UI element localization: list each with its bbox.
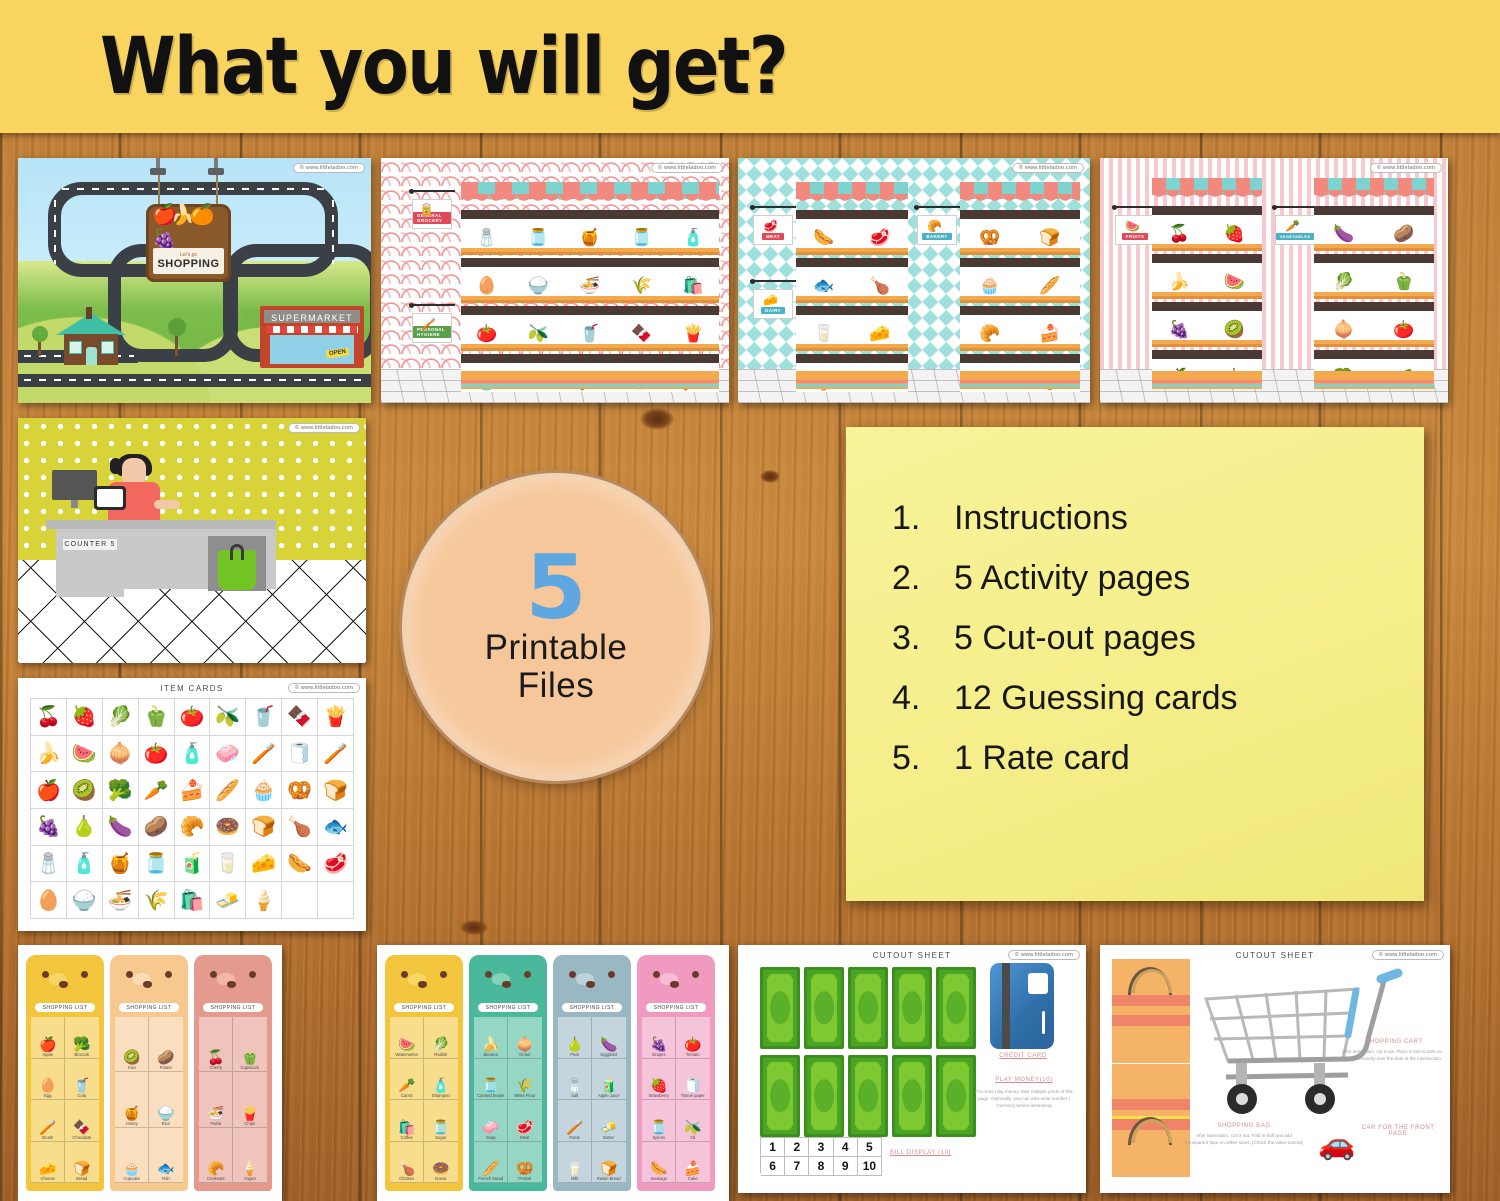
item-icon: 🧁 (123, 1161, 140, 1175)
play-money-bill[interactable] (804, 1055, 844, 1137)
sign-bracket (150, 168, 166, 175)
contents-list-item: 5.1 Rate card (892, 739, 1424, 778)
item-name: Rice (162, 1121, 170, 1126)
tree (32, 326, 48, 356)
shopping-list-item: 🥕Carrot (390, 1059, 424, 1101)
shopping-list-item: 🍚Rice (149, 1072, 183, 1127)
preview-card-item-cards[interactable]: ITEM CARDS 🍒🍓🥬🫑🍅🫒🥤🍫🍟🍌🍉🧅🍅🧴🧼🪥🧻🪥🍎🥝🥦🥕🍰🥖🧁🥨🍞🍇🍐… (18, 678, 366, 931)
item-name: Potato (160, 1065, 172, 1070)
shelf-canopy (1152, 178, 1262, 195)
item-name: Capsicum (240, 1065, 259, 1070)
tree (168, 318, 186, 356)
item-icon: 🍰 (684, 1161, 701, 1175)
item-name: Apple Juice (598, 1093, 620, 1098)
animal-head-koala (553, 955, 631, 999)
shopping-list-item: 🍒Cherry (199, 1017, 233, 1072)
item-name: Butter (603, 1135, 614, 1140)
item-icon: 🛍️ (398, 1120, 415, 1134)
item-icon: 🍇 (650, 1037, 667, 1051)
shopping-list-item: 🫙Sugar (424, 1100, 458, 1142)
item-icon: 🍐 (566, 1037, 583, 1051)
item-name: Canned beans (477, 1093, 504, 1098)
item-name: Cake (688, 1176, 698, 1181)
item-name: Cheese (41, 1176, 55, 1181)
bill-number-cell: 4 (834, 1138, 858, 1157)
shopping-list-item: 🍗Chicken (390, 1142, 424, 1184)
header-banner: What you will get? (0, 0, 1500, 133)
item-card-cell[interactable]: 🍅 (139, 736, 175, 773)
shopping-list-item: 🍩Donut (424, 1142, 458, 1184)
wood-knot (760, 470, 780, 483)
vegetables-icon: 🥕 (1285, 219, 1300, 233)
item-card-cell[interactable]: 🧻 (282, 736, 318, 773)
play-money-bill[interactable] (760, 1055, 800, 1137)
watermark: © www.littleladoo.com (651, 163, 723, 173)
item-icon: 🥐 (207, 1161, 224, 1175)
sign-bracket (750, 206, 796, 214)
cart-label: SHOPPING CART (1348, 1039, 1440, 1045)
item-icon: 🍌 (482, 1037, 499, 1051)
watermark: © www.littleladoo.com (293, 163, 365, 173)
sign-bracket (409, 304, 455, 312)
contents-list-item: 2.5 Activity pages (892, 559, 1424, 598)
sign-bracket (914, 206, 960, 214)
shelf-unit-vegetables: 🍆🥔 🥬🫑 🧅🍅 🥦🥕 (1314, 178, 1434, 375)
shopping-list-item: 🥨Pretzel (508, 1142, 542, 1184)
item-card-cell[interactable]: 🍗 (282, 809, 318, 846)
item-card-cell[interactable]: 🧼 (210, 736, 246, 773)
item-icon: 🐟 (157, 1161, 174, 1175)
item-card-cell[interactable]: 🍜 (103, 882, 139, 919)
shelf-canopy (1314, 178, 1434, 195)
supermarket-name: SUPERMARKET (264, 310, 360, 322)
bill-number-cell: 5 (858, 1138, 882, 1157)
item-name: Donut (435, 1176, 446, 1181)
item-name: Pear (570, 1052, 579, 1057)
item-name: Carrot (401, 1093, 413, 1098)
shopping-list-item: 🥖French bread (474, 1142, 508, 1184)
item-card-cell[interactable]: 🥐 (175, 809, 211, 846)
item-icon: 🧂 (566, 1078, 583, 1092)
supermarket-building[interactable]: SUPERMARKET OPEN (260, 306, 364, 368)
item-card-cell[interactable]: 🧈 (210, 882, 246, 919)
shelf-unit-fruits: 🍒🍓 🍌🍉 🍇🥝 🍎🍐 (1152, 178, 1262, 375)
bill-number-cell: 10 (858, 1157, 882, 1176)
animal-head-tiger (385, 955, 463, 999)
shelf-row: 🌭🥩 (796, 219, 908, 248)
list-text: 1 Rate card (954, 739, 1130, 778)
item-card-cell[interactable]: 🍞 (318, 772, 354, 809)
item-card-cell[interactable]: 🍎 (31, 772, 67, 809)
item-card-cell[interactable]: 🍓 (67, 699, 103, 736)
shelf-row: 🧂🫙🍯🫙🧴 (461, 219, 719, 248)
item-card-cell[interactable]: 🐟 (318, 809, 354, 846)
item-icon: 🍎 (39, 1037, 56, 1051)
road-dash (54, 200, 56, 264)
item-name: French bread (478, 1176, 503, 1181)
item-name: Meat (520, 1135, 529, 1140)
shopping-list-item: 🧃Apple Juice (592, 1059, 626, 1101)
animal-head-tiger (26, 955, 104, 999)
play-money-bill[interactable] (892, 967, 932, 1049)
shopping-list-item: 🫙Canned beans (474, 1059, 508, 1101)
item-name: Grapes (652, 1052, 666, 1057)
item-icon: 🍦 (241, 1161, 258, 1175)
watermark: © www.littleladoo.com (288, 423, 360, 433)
item-card-cell[interactable] (282, 882, 318, 919)
shopping-list-item: 🥔Potato (149, 1017, 183, 1072)
item-name: Cherry (209, 1065, 222, 1070)
item-name: Bread (76, 1176, 87, 1181)
item-card-cell[interactable]: 🍦 (246, 882, 282, 919)
play-money-bill[interactable] (804, 967, 844, 1049)
shopping-list-item: 🥚Egg (31, 1059, 65, 1101)
item-card-cell[interactable]: 🍐 (67, 809, 103, 846)
item-card-cell[interactable]: 🍟 (318, 699, 354, 736)
preview-card-road-scene[interactable]: 🍎🍌🍊🍇 Let's go SHOPPING SUPERMARKE (18, 158, 371, 403)
shopping-list-item: 🍟Chips (233, 1072, 267, 1127)
house-illustration (60, 313, 122, 365)
item-card-cell[interactable] (318, 882, 354, 919)
contents-list-item: 4.12 Guessing cards (892, 679, 1424, 718)
item-card-cell[interactable]: 🥝 (67, 772, 103, 809)
item-icon: 🍯 (123, 1106, 140, 1120)
item-icon: 🥨 (516, 1161, 533, 1175)
item-name: Chips (244, 1121, 255, 1126)
item-name: Pretzel (518, 1176, 531, 1181)
bill-number-cell: 2 (785, 1138, 809, 1157)
item-card-cell[interactable]: 🥚 (31, 882, 67, 919)
shopping-list-item: 🪥Brush (31, 1100, 65, 1142)
sign-plate: 🥐 BAKERY (917, 215, 957, 245)
shopping-list-item: 🫑Capsicum (233, 1017, 267, 1072)
bill-number-cell: 3 (809, 1138, 833, 1157)
item-name: Apple (42, 1052, 53, 1057)
item-icon: 🧀 (39, 1161, 56, 1175)
shopping-list-items: 🍒Cherry🫑Capsicum🍜Pasta🍟Chips🥐Croissant🍦Y… (199, 1017, 266, 1183)
item-name: Chocolate (72, 1135, 91, 1140)
item-name: Broccoli (74, 1052, 89, 1057)
shopping-list-items: 🍇Grapes🍅Tomato🍓Strawberry🧻Tissue paper🫙S… (642, 1017, 709, 1183)
item-name: Honey (126, 1121, 138, 1126)
shelf-row: 🥨🍞 (960, 219, 1080, 248)
sign-label: DAIRY (761, 307, 785, 314)
animal-head-pig (637, 955, 715, 999)
contents-list-item: 1.Instructions (892, 499, 1424, 538)
item-name: Brush (42, 1135, 53, 1140)
shopping-signboard[interactable]: 🍎🍌🍊🍇 Let's go SHOPPING (146, 204, 231, 282)
item-name: Pasta (210, 1121, 221, 1126)
preview-card-checkout-counter[interactable]: COUNTER 5 © www.littleladoo.com (18, 418, 366, 663)
item-icon: 🫙 (432, 1120, 449, 1134)
item-card-cell[interactable]: 🧀 (246, 846, 282, 883)
item-card-cell[interactable]: 🍒 (31, 699, 67, 736)
shopping-list-items: 🥝Kiwi🥔Potato🍯Honey🍚Rice🧁Cupcake🐟Fish (115, 1017, 182, 1183)
shopping-list-item: 🛍️Coffee (390, 1100, 424, 1142)
shopping-list-item: 🫙Spices (642, 1100, 676, 1142)
sign-plate: 🥩 MEAT (753, 215, 793, 245)
shopping-list-item: 🍜Pasta (199, 1072, 233, 1127)
play-money-bill[interactable] (760, 967, 800, 1049)
contents-list-item: 3.5 Cut-out pages (892, 619, 1424, 658)
credit-card-label: CREDIT CARD (982, 1053, 1064, 1059)
shopping-list-items: 🍎Apple🥦Broccoli🥚Egg🥤Cola🪥Brush🍫Chocolate… (31, 1017, 98, 1183)
item-card-cell[interactable]: 🌭 (282, 846, 318, 883)
credit-card-illustration (990, 963, 1054, 1049)
cart-note: After lamination, cut it out. Place 8 Ve… (1340, 1049, 1444, 1063)
item-icon: 🥬 (432, 1037, 449, 1051)
item-card-cell[interactable]: 🥤 (246, 699, 282, 736)
item-card-cell[interactable]: 🧃 (175, 846, 211, 883)
shopping-list-item: 🍆Eggplant (592, 1017, 626, 1059)
item-name: Chicken (399, 1176, 414, 1181)
cashier-arm (154, 500, 180, 509)
watermark: © www.littleladoo.com (1008, 950, 1080, 960)
play-money-bill[interactable] (848, 967, 888, 1049)
item-card-cell[interactable]: 🍆 (103, 809, 139, 846)
car-label: CAR FOR THE FRONT PAGE (1358, 1125, 1438, 1137)
shelf-canopy (796, 182, 908, 199)
item-icon: 🍓 (650, 1078, 667, 1092)
item-icon: 🌾 (516, 1078, 533, 1092)
sign-label: BAKERY (922, 233, 951, 240)
cashier-ponytail (110, 458, 121, 474)
item-card-cell[interactable]: 🍇 (31, 809, 67, 846)
shopping-list-item: 🧂Salt (558, 1059, 592, 1101)
preview-card-meat-bakery[interactable]: 🥩 MEAT 🧀 DAIRY 🥐 BAKERY 🌭🥩 (738, 158, 1090, 403)
item-name: Banana (484, 1052, 498, 1057)
bakery-icon: 🥐 (927, 219, 942, 233)
shopping-list-item: 🍅Tomato (676, 1017, 710, 1059)
shopping-list-item: 🍐Pear (558, 1017, 592, 1059)
item-icon: 🧻 (684, 1078, 701, 1092)
item-card-cell[interactable]: 🍚 (67, 882, 103, 919)
item-icon: 🍞 (600, 1161, 617, 1175)
sign-plate: 🍉 FRUITS (1115, 215, 1155, 245)
shopping-list-item: 🍌Banana (474, 1017, 508, 1059)
shelf-row: 🧅🍅 (1314, 311, 1434, 340)
shopping-list-bookmark-tiger[interactable]: SHOPPING LIST🍉Watermelon🥬Radish🥕Carrot🧴S… (385, 955, 463, 1191)
item-icon: 🫒 (684, 1120, 701, 1134)
shopping-list-item: 🐟Fish (149, 1128, 183, 1183)
shopping-list-item: 🌭Sausage (642, 1142, 676, 1184)
item-icon: 🍒 (207, 1050, 224, 1064)
item-card-cell[interactable]: 🧴 (175, 736, 211, 773)
item-card-cell[interactable]: 🫑 (139, 699, 175, 736)
item-name: Sausage (650, 1176, 667, 1181)
item-card-cell[interactable]: 🥬 (103, 699, 139, 736)
shopping-list-items: 🍌Banana🧅Onion🫙Canned beans🌾White Flour🧼S… (474, 1017, 541, 1183)
play-money-bill[interactable] (936, 967, 976, 1049)
item-name: Watermelon (396, 1052, 418, 1057)
shopping-list-item: 🧴Shampoo (424, 1059, 458, 1101)
play-money-bill[interactable] (848, 1055, 888, 1137)
watermark: © www.littleladoo.com (1370, 163, 1442, 173)
item-name: Egg (44, 1093, 51, 1098)
list-number: 1. (892, 499, 954, 538)
card-terminal (94, 486, 126, 510)
watermark: © www.littleladoo.com (288, 683, 360, 693)
shopping-list-item: 🍎Apple (31, 1017, 65, 1059)
item-name: Radish (434, 1052, 447, 1057)
shopping-list-item: 🧁Cupcake (115, 1128, 149, 1183)
item-icon: 🍆 (600, 1037, 617, 1051)
item-card-cell[interactable]: 🧂 (31, 846, 67, 883)
item-card-cell[interactable]: 🧴 (67, 846, 103, 883)
watermark: © www.littleladoo.com (1372, 950, 1444, 960)
sign-plate: 🪥 PERSONAL HYGIENE (412, 313, 452, 343)
item-card-cell[interactable]: 🌾 (139, 882, 175, 919)
item-name: Eggplant (601, 1052, 618, 1057)
shopping-list-bookmark-fox[interactable]: SHOPPING LIST🥝Kiwi🥔Potato🍯Honey🍚Rice🧁Cup… (110, 955, 188, 1191)
item-name: Tomato (686, 1052, 700, 1057)
item-name: Milk (571, 1176, 578, 1181)
road-dash (332, 200, 334, 264)
animal-head-fox (110, 955, 188, 999)
bill-display-label: BILL DISPLAY (10) (890, 1150, 980, 1156)
item-icon: 🪥 (566, 1120, 583, 1134)
item-name: Soap (486, 1135, 496, 1140)
shopping-basket (218, 550, 256, 590)
item-card-cell[interactable]: 🥛 (210, 846, 246, 883)
bag-note: After lamination, Cut it out. Fold in ha… (1184, 1133, 1304, 1147)
bookmark-container-b: SHOPPING LIST🍉Watermelon🥬Radish🥕Carrot🧴S… (377, 945, 729, 1201)
item-card-cell[interactable]: 🪥 (318, 736, 354, 773)
play-money-bill[interactable] (892, 1055, 932, 1137)
shopping-sign-plate: Let's go SHOPPING (153, 248, 224, 274)
list-text: 5 Cut-out pages (954, 619, 1196, 658)
shopping-list-item: 🍦Yogurt (233, 1128, 267, 1183)
preview-card-general-grocery[interactable]: 🥫 GENERAL GROCERY 🪥 PERSONAL HYGIENE 🧂🫙🍯… (381, 158, 729, 403)
item-card-cell[interactable]: 🥦 (103, 772, 139, 809)
item-name: White Flour (514, 1093, 535, 1098)
play-money-label: PLAY MONEY(10) (978, 1077, 1070, 1083)
fruits-icon: 🍉 (1125, 219, 1140, 233)
list-text: Instructions (954, 499, 1128, 538)
item-card-cell[interactable]: 🥨 (282, 772, 318, 809)
item-card-cell[interactable]: 🧅 (103, 736, 139, 773)
item-card-cell[interactable]: 🛍️ (175, 882, 211, 919)
bag-label: SHOPPING BAG (1196, 1123, 1292, 1129)
preview-card-money-cutout[interactable]: CUTOUT SHEET CREDIT CARD PLAY MONEY(10) … (738, 945, 1086, 1193)
sign-bracket (208, 168, 224, 175)
item-card-cell[interactable]: 🥕 (139, 772, 175, 809)
shopping-list-item: 🥤Cola (65, 1059, 99, 1101)
list-number: 5. (892, 739, 954, 778)
shopping-list-item: 🍰Cake (676, 1142, 710, 1184)
item-card-cell[interactable]: 🫙 (139, 846, 175, 883)
bill-number-cell: 8 (809, 1157, 833, 1176)
item-icon: 🧴 (432, 1078, 449, 1092)
item-icon: 🧅 (516, 1037, 533, 1051)
animal-head-bear (194, 955, 272, 999)
sign-plate: 🥫 GENERAL GROCERY (412, 199, 452, 229)
item-card-cell[interactable]: 🍅 (175, 699, 211, 736)
shopping-list-item: 🍯Honey (115, 1072, 149, 1127)
item-card-cell[interactable]: 🫒 (210, 699, 246, 736)
item-icon: 🧼 (482, 1120, 499, 1134)
item-name: Croissant (207, 1176, 225, 1181)
item-icon: 🍩 (432, 1161, 449, 1175)
sign-bracket (409, 190, 455, 198)
item-card-cell[interactable]: 🥔 (139, 809, 175, 846)
item-card-cell[interactable]: 🍩 (210, 809, 246, 846)
item-card-cell[interactable]: 🍯 (103, 846, 139, 883)
shopping-list-bookmark-tiger[interactable]: SHOPPING LIST🍎Apple🥦Broccoli🥚Egg🥤Cola🪥Br… (26, 955, 104, 1191)
item-name: Cola (77, 1093, 86, 1098)
item-card-cell[interactable]: 🍌 (31, 736, 67, 773)
watermark: © www.littleladoo.com (1012, 163, 1084, 173)
shopping-list-bookmark-bear[interactable]: SHOPPING LIST🍒Cherry🫑Capsicum🍜Pasta🍟Chip… (194, 955, 272, 1191)
item-name: Tissue paper (681, 1093, 705, 1098)
preview-card-shopping-lists-b[interactable]: SHOPPING LIST🍉Watermelon🥬Radish🥕Carrot🧴S… (377, 945, 729, 1201)
shopping-list-item: 🍉Watermelon (390, 1017, 424, 1059)
bill-number-cell: 7 (785, 1157, 809, 1176)
contents-sticky-note: 1.Instructions2.5 Activity pages3.5 Cut-… (846, 427, 1424, 901)
road-dash (62, 188, 324, 190)
shopping-list-label: SHOPPING LIST (119, 1003, 178, 1012)
counter-number-tag: COUNTER 5 (62, 538, 118, 551)
shopping-list-item: 🍓Strawberry (642, 1059, 676, 1101)
hygiene-icon: 🪥 (421, 317, 436, 331)
shopping-list-item: 🌾White Flour (508, 1059, 542, 1101)
item-card-cell[interactable]: 🧁 (246, 772, 282, 809)
preview-card-shopping-lists-a[interactable]: SHOPPING LIST🍎Apple🥦Broccoli🥚Egg🥤Cola🪥Br… (18, 945, 282, 1201)
item-icon: 🍅 (684, 1037, 701, 1051)
item-card-cell[interactable]: 🍞 (246, 809, 282, 846)
item-card-cell[interactable]: 🍉 (67, 736, 103, 773)
item-icon: 🍫 (73, 1120, 90, 1134)
item-card-cell[interactable]: 🪥 (246, 736, 282, 773)
item-name: Sugar (435, 1135, 446, 1140)
item-card-cell[interactable]: 🥖 (210, 772, 246, 809)
item-icon: 🥦 (73, 1037, 90, 1051)
sign-bracket (1272, 206, 1318, 214)
item-icon: 🧃 (600, 1078, 617, 1092)
item-icon: 🍚 (157, 1106, 174, 1120)
item-name: Kiwi (128, 1065, 136, 1070)
bill-number-cell: 6 (761, 1157, 785, 1176)
shelf-row: 🍅🫒🥤🍫🍟 (461, 315, 719, 344)
item-icon: 🍗 (398, 1161, 415, 1175)
item-card-cell[interactable]: 🥩 (318, 846, 354, 883)
item-card-cell[interactable]: 🍰 (175, 772, 211, 809)
contents-list: 1.Instructions2.5 Activity pages3.5 Cut-… (892, 499, 1424, 778)
sign-label: FRUITS (1122, 233, 1149, 240)
shopping-list-item: 🥝Kiwi (115, 1017, 149, 1072)
animal-head-frog (469, 955, 547, 999)
preview-card-cart-cutout[interactable]: CUTOUT SHEET SHOPPING CAR (1100, 945, 1450, 1193)
page-title: What you will get? (100, 22, 787, 112)
list-text: 12 Guessing cards (954, 679, 1238, 718)
preview-card-fruits-vegetables[interactable]: 🍉 FRUITS 🥕 VEGETABLES 🍒🍓 🍌🍉 🍇🥝 🍎🍐 (1100, 158, 1448, 403)
shopping-list-label: SHOPPING LIST (35, 1003, 94, 1012)
shopping-list-bookmark-pig[interactable]: SHOPPING LIST🍇Grapes🍅Tomato🍓Strawberry🧻T… (637, 955, 715, 1191)
item-icon: 🍞 (73, 1161, 90, 1175)
shopping-list-bookmark-koala[interactable]: SHOPPING LIST🍐Pear🍆Eggplant🧂Salt🧃Apple J… (553, 955, 631, 1191)
item-icon: 🫑 (241, 1050, 258, 1064)
bill-number-cell: 1 (761, 1138, 785, 1157)
item-card-cell[interactable]: 🍫 (282, 699, 318, 736)
shopping-list-label: SHOPPING LIST (203, 1003, 262, 1012)
item-icon: 🍜 (207, 1106, 224, 1120)
item-name: Oil (690, 1135, 695, 1140)
shopping-list-item: 🧻Tissue paper (676, 1059, 710, 1101)
item-name: Onion (519, 1052, 530, 1057)
shopping-list-bookmark-frog[interactable]: SHOPPING LIST🍌Banana🧅Onion🫙Canned beans🌾… (469, 955, 547, 1191)
play-money-note: For more play money, take multiple print… (970, 1089, 1078, 1110)
shelf-row: 🍆🥔 (1314, 215, 1434, 244)
